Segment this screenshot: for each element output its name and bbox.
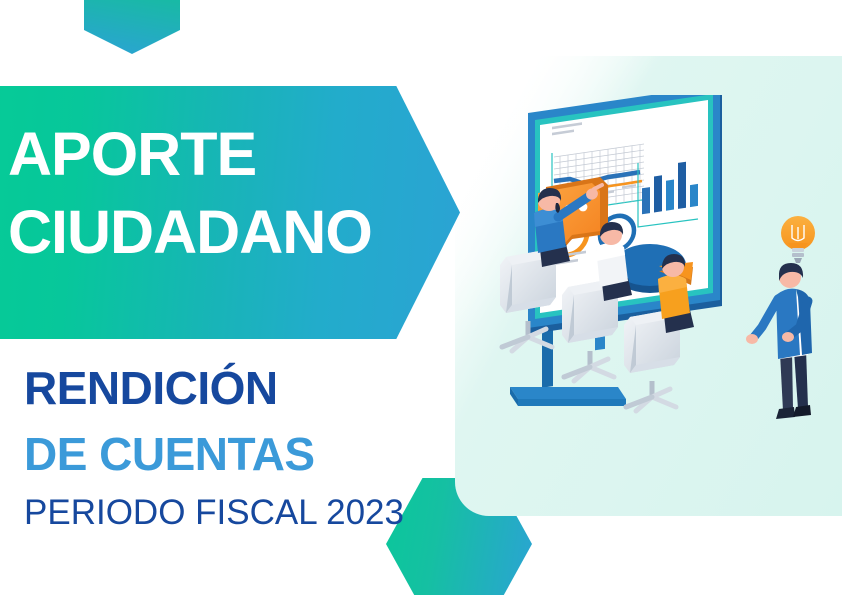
presenter	[746, 263, 812, 419]
subtitle-line-2: DE CUENTAS	[24, 431, 404, 477]
lightbulb-icon	[781, 216, 815, 263]
title-line-2: CIUDADANO	[8, 202, 372, 263]
subtitle-line-3: PERIODO FISCAL 2023	[24, 495, 404, 530]
poster-canvas: 75 50	[0, 0, 842, 595]
presentation-illustration: 75 50	[490, 95, 842, 455]
subtitle-line-1: RENDICIÓN	[24, 365, 404, 411]
hexagon-top-decoration	[84, 0, 180, 54]
title-line-1: APORTE	[8, 120, 256, 188]
page-title: APORTE CIUDADANO	[8, 124, 372, 263]
subtitle-group: RENDICIÓN DE CUENTAS PERIODO FISCAL 2023	[24, 365, 404, 530]
